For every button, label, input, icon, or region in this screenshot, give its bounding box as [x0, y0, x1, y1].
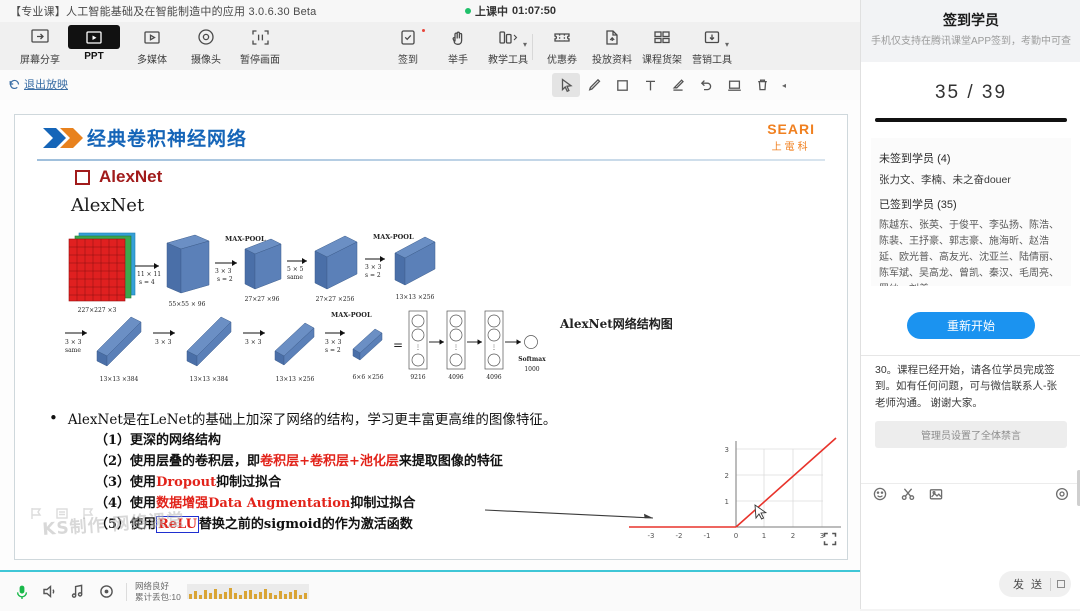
sub-bullet-text-tail: 抑制过拟合 [216, 475, 281, 490]
sub-bullet-number: （2） [95, 454, 130, 469]
signin-title: 签到学员 [861, 10, 1080, 30]
exit-presentation-button[interactable]: 退出放映 [8, 76, 68, 92]
sub-bullet-highlight: 卷积层+卷积层+池化层 [260, 454, 399, 469]
sub-bullet-number: （3） [95, 475, 130, 490]
packet-loss: 累计丢包:10 [135, 592, 181, 602]
checkin-icon [395, 25, 421, 49]
not-signed-label: 未签到学员 [879, 153, 934, 165]
header-divider [37, 159, 825, 161]
svg-text:3 × 3: 3 × 3 [155, 339, 172, 346]
sub-bullet-highlight: 数据增强Data Augmentation [156, 496, 350, 511]
chat-area: 30。课程已经开始，请各位学员完成签到。如有任何问题，可与微信联系人-张老师沟通… [861, 358, 1080, 448]
brand-logo: SEARI 上電科 [767, 121, 815, 153]
classroom-app: 【专业课】人工智能基础及在智能制造中的应用 3.0.6.30 Beta 上课中 … [0, 0, 1080, 609]
svg-text:3 × 3: 3 × 3 [215, 268, 232, 275]
network-quality: 网络良好 [135, 581, 169, 591]
alexnet-architecture-diagram: 227×227 ×3 11 × 11s = 4 55×55 × 96 [43, 211, 563, 401]
svg-text:s = 2: s = 2 [365, 272, 381, 279]
svg-text:3 × 3: 3 × 3 [325, 339, 342, 346]
live-label: 上课中 [475, 3, 508, 19]
send-button[interactable]: 发 送 [999, 571, 1071, 597]
right-panel: 签到学员 手机仅支持在腾讯课堂APP签到，考勤中可查 35 / 39 未签到学员… [860, 0, 1080, 609]
tool-label: 签到 [398, 51, 418, 66]
tool-label: 优惠券 [547, 51, 577, 66]
camera-icon [193, 25, 219, 49]
teaching-tools-icon [495, 25, 521, 49]
svg-text:27×27 ×96: 27×27 ×96 [245, 296, 280, 303]
signin-subtitle: 手机仅支持在腾讯课堂APP签到，考勤中可查 [861, 32, 1080, 47]
chat-message: 30。课程已经开始，请各位学员完成签到。如有任何问题，可与微信联系人-张老师沟通… [861, 358, 1080, 411]
exit-label: 退出放映 [24, 76, 68, 92]
svg-text:s = 2: s = 2 [325, 347, 341, 354]
student-name-list[interactable]: 未签到学员 (4) 张力文、李楠、未之奋douer 已签到学员 (35) 陈越东… [871, 138, 1071, 286]
svg-text:11 × 11: 11 × 11 [137, 271, 161, 278]
svg-text:5 × 5: 5 × 5 [287, 266, 304, 273]
svg-text:9216: 9216 [410, 374, 425, 381]
svg-text:4096: 4096 [486, 374, 501, 381]
svg-text:6×6 ×256: 6×6 ×256 [352, 374, 383, 381]
panel-divider [861, 355, 1080, 356]
class-timer: 01:07:50 [512, 5, 556, 17]
svg-text:2: 2 [791, 532, 795, 540]
tool-teaching-tools[interactable]: 教学工具 [480, 25, 536, 69]
coupon-icon [549, 25, 575, 49]
emoji-icon[interactable] [873, 487, 887, 506]
not-signed-count: (4) [937, 153, 950, 165]
text-tool-button[interactable] [636, 73, 664, 97]
tool-label: 营销工具 [692, 51, 732, 66]
media-icon [139, 25, 165, 49]
bullet-dot-icon: • [49, 410, 58, 430]
progress-fill [875, 118, 1067, 122]
svg-text:-2: -2 [676, 532, 683, 540]
signed-count: (35) [937, 199, 957, 211]
tool-pause-frame[interactable]: 暂停画面 [232, 25, 288, 69]
marketing-tools-chevron-down-icon[interactable]: ▾ [725, 40, 729, 49]
signed-heading: 已签到学员 (35) [879, 196, 1063, 212]
svg-text:1: 1 [762, 532, 766, 540]
presentation-slide[interactable]: 经典卷积神经网络 SEARI 上電科 AlexNet AlexNet [14, 114, 848, 560]
tool-media[interactable]: 多媒体 [124, 25, 180, 69]
sub-bullet-text-tail: 替换之前的sigmoid的作为激活函数 [199, 517, 413, 532]
sub-bullet-text: 更深的网络结构 [130, 433, 221, 448]
speaker-icon[interactable] [36, 584, 64, 599]
slide-header: 经典卷积神经网络 SEARI 上電科 [15, 115, 847, 161]
teaching-tools-chevron-down-icon[interactable]: ▾ [523, 40, 527, 49]
tool-label: 暂停画面 [240, 51, 280, 66]
main-toolbar: 屏幕分享 PPT 多媒体 摄像头 暂停画面 [0, 22, 860, 71]
sub-bullet-text: 使用 [130, 475, 156, 490]
raise-hand-icon [445, 25, 471, 49]
relu-chart-svg: -3 -2 -1 0 1 2 3 1 2 3 [623, 437, 845, 555]
svg-text:same: same [65, 347, 81, 354]
square-bullet-icon [75, 170, 90, 185]
signin-count-wrap: 35 / 39 [861, 82, 1080, 104]
tool-coupon[interactable]: 优惠券 [534, 25, 590, 69]
pause-frame-icon [247, 25, 273, 49]
tool-label: 举手 [448, 51, 468, 66]
svg-text:1: 1 [725, 498, 729, 506]
svg-text:Softmax: Softmax [518, 356, 546, 363]
tool-screen-share[interactable]: 屏幕分享 [12, 25, 68, 69]
bottom-divider [126, 583, 127, 601]
svg-text:same: same [287, 274, 303, 281]
svg-text:4096: 4096 [448, 374, 463, 381]
settings-icon[interactable] [1055, 487, 1069, 506]
delete-tool-button[interactable] [748, 73, 776, 97]
chat-toolbar [861, 483, 1080, 509]
share-file-icon [599, 25, 625, 49]
annotation-toolbar: ◂ [552, 73, 786, 97]
tool-label: 课程货架 [642, 51, 682, 66]
tool-raise-hand[interactable]: 举手 [430, 25, 486, 69]
restart-signin-button[interactable]: 重新开始 [907, 312, 1035, 339]
screen-share-icon [27, 25, 53, 49]
brand-cn: 上電科 [767, 138, 815, 153]
svg-text:3 × 3: 3 × 3 [245, 339, 262, 346]
signed-names: 陈越东、张英、于俊平、李弘扬、陈浩、陈裴、王抒豪、郭志豪、施海昕、赵浩延、欧光普… [879, 218, 1063, 286]
camera-dot-icon[interactable] [92, 584, 120, 599]
ppt-icon [68, 25, 120, 49]
signed-label: 已签到学员 [879, 199, 934, 211]
sub-bullet-number: （1） [95, 433, 130, 448]
flag-outline-icon [81, 507, 95, 520]
annotation-collapse-icon[interactable]: ◂ [782, 81, 786, 90]
section-title: AlexNet [99, 167, 162, 187]
tool-label: 多媒体 [137, 51, 167, 66]
svg-text:⋮: ⋮ [415, 344, 421, 351]
signin-count: 35 / 39 [935, 82, 1007, 103]
brand-en: SEARI [767, 121, 815, 137]
cursor-tool-button[interactable] [552, 73, 580, 97]
tool-label: 投放资料 [592, 51, 632, 66]
signin-progress-bar [875, 118, 1067, 122]
sub-bullet-text-tail: 来提取图像的特征 [399, 454, 503, 469]
svg-text:227×227 ×3: 227×227 ×3 [78, 307, 117, 314]
bullet-main: AlexNet是在LeNet的基础上加深了网络的结构，学习更丰富更高维的图像特征… [68, 410, 557, 430]
svg-text:MAX-POOL: MAX-POOL [225, 235, 266, 243]
image-icon[interactable] [929, 488, 943, 506]
tool-label: PPT [84, 51, 103, 62]
tool-label: 教学工具 [488, 51, 528, 66]
signin-header: 签到学员 手机仅支持在腾讯课堂APP签到，考勤中可查 [861, 0, 1080, 62]
app-title: 【专业课】人工智能基础及在智能制造中的应用 3.0.6.30 Beta [0, 3, 317, 19]
sub-bullet-text: 使用层叠的卷积层，即 [130, 454, 260, 469]
svg-text:55×55 × 96: 55×55 × 96 [169, 301, 206, 308]
tool-camera[interactable]: 摄像头 [178, 25, 234, 69]
toolbar-divider [532, 34, 533, 60]
live-dot-icon [465, 8, 471, 14]
scissors-icon[interactable] [901, 487, 915, 506]
undo-tool-button[interactable] [692, 73, 720, 97]
marketing-tools-icon [699, 25, 725, 49]
sub-bullet-highlight: Dropout [156, 475, 216, 490]
svg-text:⋮: ⋮ [491, 344, 497, 351]
checkin-badge-dot [422, 29, 425, 32]
svg-text:2: 2 [725, 472, 729, 480]
svg-text:13×13 ×384: 13×13 ×384 [100, 376, 139, 383]
svg-text:27×27 ×256: 27×27 ×256 [316, 296, 355, 303]
not-signed-heading: 未签到学员 (4) [879, 150, 1063, 166]
svg-text:-3: -3 [648, 532, 655, 540]
svg-text:3: 3 [725, 446, 729, 454]
microphone-icon[interactable] [8, 584, 36, 600]
send-divider [1050, 578, 1051, 591]
svg-text:1000: 1000 [524, 366, 539, 373]
svg-text:s = 4: s = 4 [139, 279, 155, 286]
rect-tool-button[interactable] [608, 73, 636, 97]
tool-ppt[interactable]: PPT [66, 25, 122, 69]
tool-course-shelf[interactable]: 课程货架 [634, 25, 690, 69]
svg-text:MAX-POOL: MAX-POOL [373, 233, 414, 241]
sub-bullet-text-tail: 抑制过拟合 [350, 496, 415, 511]
not-signed-names: 张力文、李楠、未之奋douer [879, 172, 1063, 188]
relu-chart: -3 -2 -1 0 1 2 3 1 2 3 [623, 437, 845, 555]
tool-share-file[interactable]: 投放资料 [584, 25, 640, 69]
svg-text:13×13 ×384: 13×13 ×384 [190, 376, 229, 383]
svg-text:0: 0 [734, 532, 738, 540]
diagram-caption: AlexNet网络结构图 [560, 315, 673, 332]
fullscreen-icon[interactable] [823, 532, 837, 551]
svg-text:MAX-POOL: MAX-POOL [331, 311, 372, 319]
mute-notice: 管理员设置了全体禁言 [875, 421, 1067, 448]
section-heading: AlexNet [75, 167, 162, 187]
title-bar: 【专业课】人工智能基础及在智能制造中的应用 3.0.6.30 Beta [0, 0, 860, 22]
slide-stage: 经典卷积神经网络 SEARI 上電科 AlexNet AlexNet [0, 100, 860, 570]
svg-text:13×13 ×256: 13×13 ×256 [276, 376, 315, 383]
bottom-status-bar: 网络良好 累计丢包:10 [0, 570, 860, 611]
course-shelf-icon [649, 25, 675, 49]
svg-text:3 × 3: 3 × 3 [365, 264, 382, 271]
audio-level-meter [187, 584, 309, 599]
tool-label: 屏幕分享 [20, 51, 60, 66]
svg-text:3 × 3: 3 × 3 [65, 339, 82, 346]
flag-icon [29, 507, 43, 520]
send-options-icon[interactable] [1057, 580, 1065, 588]
svg-text:s = 2: s = 2 [217, 276, 233, 283]
laser-tool-button[interactable] [720, 73, 748, 97]
bullet-main-row: • AlexNet是在LeNet的基础上加深了网络的结构，学习更丰富更高维的图像… [49, 410, 749, 430]
send-label: 发 送 [1013, 576, 1044, 592]
music-icon[interactable] [64, 584, 92, 599]
live-status: 上课中 01:07:50 [465, 0, 556, 22]
svg-text:⋮: ⋮ [453, 344, 459, 351]
tool-label: 摄像头 [191, 51, 221, 66]
svg-text:=: = [393, 338, 403, 352]
tool-checkin[interactable]: 签到 [380, 25, 436, 69]
network-status: 网络良好 累计丢包:10 [135, 581, 181, 602]
svg-text:-1: -1 [704, 532, 711, 540]
pen-tool-button[interactable] [580, 73, 608, 97]
eraser-tool-button[interactable] [664, 73, 692, 97]
double-chevron-right-icon [41, 127, 83, 154]
tool-marketing-tools[interactable]: 营销工具 [684, 25, 740, 69]
slide-mini-icons [29, 507, 95, 520]
slide-title: 经典卷积神经网络 [87, 124, 247, 151]
list-icon [55, 507, 69, 520]
svg-text:13×13 ×256: 13×13 ×256 [396, 294, 435, 301]
